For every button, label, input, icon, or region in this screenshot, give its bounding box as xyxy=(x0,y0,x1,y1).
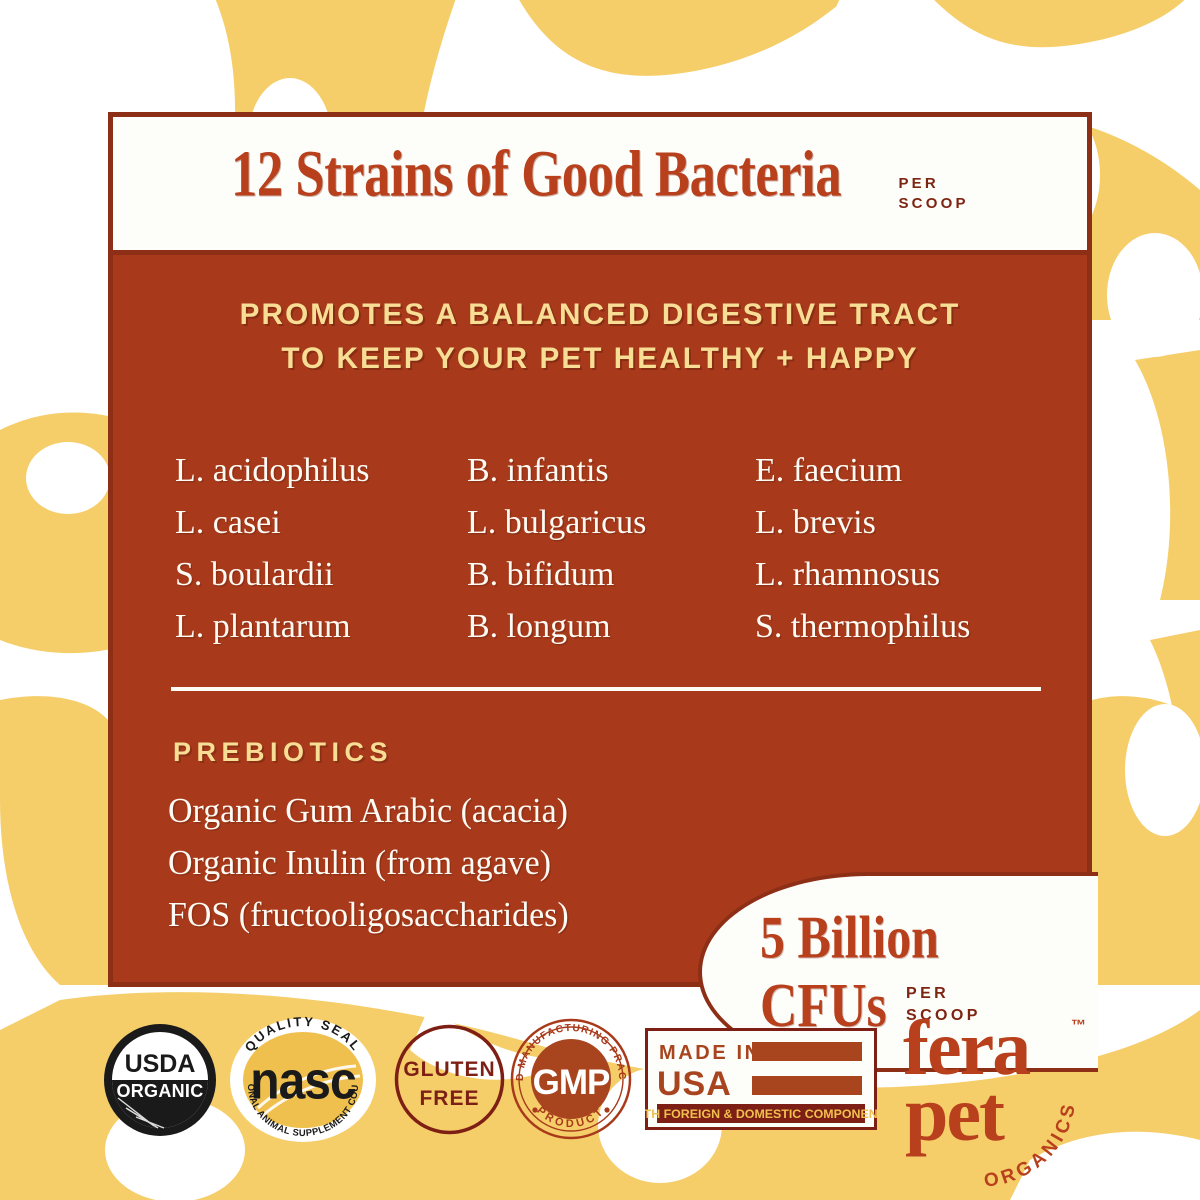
certification-badge-row: USDA ORGANIC QUALITY SEAL nasc NATIONAL … xyxy=(0,990,1200,1200)
made-in-usa-line2: USA xyxy=(657,1065,732,1103)
tagline-text: PROMOTES A BALANCED DIGESTIVE TRACT TO K… xyxy=(118,255,1082,381)
strain-item: B. infantis xyxy=(467,445,755,497)
strain-item: E. faecium xyxy=(755,445,1055,497)
prebiotics-list: Organic Gum Arabic (acacia) Organic Inul… xyxy=(168,785,728,941)
gmp-center-label: GMP xyxy=(533,1063,610,1102)
strains-grid: L. acidophilus B. infantis E. faecium L.… xyxy=(175,445,1055,653)
strain-item: B. longum xyxy=(467,601,755,653)
nasc-center-wordmark: nasc xyxy=(250,1050,355,1110)
gluten-free-line1: GLUTEN xyxy=(403,1058,495,1081)
strain-item: L. acidophilus xyxy=(175,445,467,497)
gluten-free-badge: GLUTEN FREE xyxy=(392,1022,507,1137)
strain-item: L. brevis xyxy=(755,497,1055,549)
prebiotic-item: FOS (fructooligosaccharides) xyxy=(168,889,711,941)
infographic-root: 12 Strains of Good Bacteria PER SCOOP PR… xyxy=(0,0,1200,1200)
prebiotic-item: Organic Gum Arabic (acacia) xyxy=(168,785,711,837)
usda-organic-badge: USDA ORGANIC xyxy=(100,1020,220,1140)
section-divider xyxy=(171,687,1041,691)
strain-item: S. thermophilus xyxy=(755,601,1055,653)
strain-item: L. rhamnosus xyxy=(755,549,1055,601)
strain-item: S. boulardii xyxy=(175,549,467,601)
made-in-usa-line1: MADE IN xyxy=(659,1042,762,1064)
cfu-amount: 5 Billion xyxy=(760,907,1084,972)
logo-trademark-icon: ™ xyxy=(1071,1017,1086,1034)
nasc-quality-seal-badge: QUALITY SEAL nasc NATIONAL ANIMAL SUPPLE… xyxy=(228,1016,378,1144)
usda-line1: USDA xyxy=(125,1050,196,1078)
gluten-free-line2: FREE xyxy=(419,1087,479,1110)
strain-item: L. plantarum xyxy=(175,601,467,653)
prebiotic-item: Organic Inulin (from agave) xyxy=(168,837,711,889)
usda-line2: ORGANIC xyxy=(116,1081,203,1101)
card-body: PROMOTES A BALANCED DIGESTIVE TRACT TO K… xyxy=(113,255,1087,982)
strain-item: L. casei xyxy=(175,497,467,549)
strain-item: L. bulgaricus xyxy=(467,497,755,549)
strain-item: B. bifidum xyxy=(467,549,755,601)
prebiotics-heading: PREBIOTICS xyxy=(173,737,393,768)
logo-word-pet: pet xyxy=(905,1070,1005,1157)
header-inner: 12 Strains of Good Bacteria PER SCOOP xyxy=(231,148,968,224)
card-header: 12 Strains of Good Bacteria PER SCOOP xyxy=(113,117,1087,255)
main-info-card: 12 Strains of Good Bacteria PER SCOOP PR… xyxy=(108,112,1092,987)
fera-pet-organics-logo: fera ™ pet ORGANICS xyxy=(895,1002,1110,1187)
gmp-badge: GOOD MANUFACTURING PRACTICE PRODUCT GMP xyxy=(510,1018,632,1140)
page-title: 12 Strains of Good Bacteria xyxy=(231,136,841,212)
header-per-scoop-label: PER SCOOP xyxy=(898,174,968,214)
made-in-usa-badge: MADE IN USA WITH FOREIGN & DOMESTIC COMP… xyxy=(645,1028,877,1130)
made-in-usa-line3: WITH FOREIGN & DOMESTIC COMPONENTS xyxy=(645,1107,877,1121)
